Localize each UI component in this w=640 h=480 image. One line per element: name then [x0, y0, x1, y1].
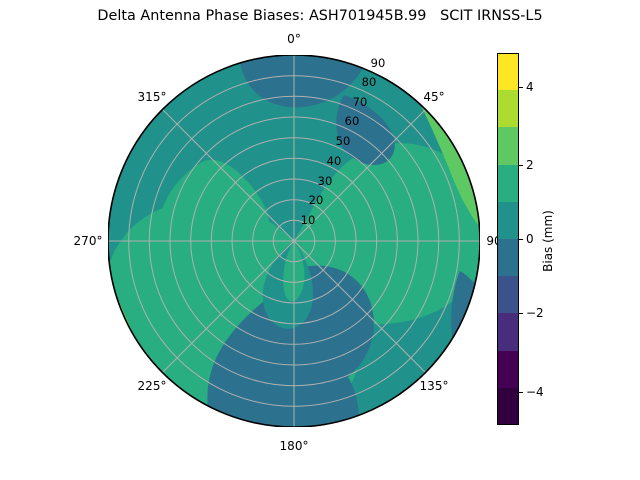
colorbar-band-8	[497, 351, 519, 388]
colorbar-ticklabel-4: 4	[526, 80, 534, 94]
r-tick-label-90: 90	[371, 56, 386, 70]
colorbar-ticklabel-neg4: −4	[526, 385, 544, 399]
colorbar-band-6	[497, 276, 519, 313]
colorbar-band-4	[497, 202, 519, 239]
colorbar-tick-4	[519, 87, 523, 88]
r-tick-label-70: 70	[353, 95, 368, 109]
colorbar: 4 2 0 −2 −4	[497, 53, 519, 425]
colorbar-ticklabel-neg2: −2	[526, 306, 544, 320]
r-tick-label-80: 80	[362, 75, 377, 89]
colorbar-tick-neg2	[519, 313, 523, 314]
contour-band-blue-right	[451, 271, 480, 373]
colorbar-band-9	[497, 388, 519, 425]
theta-tick-label-0: 0°	[287, 32, 301, 46]
page-title: Delta Antenna Phase Biases: ASH701945B.9…	[0, 8, 640, 24]
colorbar-band-1	[497, 90, 519, 127]
polar-plot-axes: 10 20 30 40 50 60 70 80 90	[108, 55, 480, 427]
colorbar-tick-neg4	[519, 392, 523, 393]
colorbar-gradient	[497, 53, 519, 425]
colorbar-tick-2	[519, 165, 523, 166]
colorbar-axis-label: Bias (mm)	[541, 210, 555, 272]
polar-contour-svg	[108, 55, 480, 427]
r-tick-label-30: 30	[318, 174, 333, 188]
r-tick-label-20: 20	[309, 193, 324, 207]
theta-tick-label-225: 225°	[138, 379, 167, 393]
colorbar-tick-0	[519, 239, 523, 240]
colorbar-band-2	[497, 127, 519, 164]
theta-tick-label-270: 270°	[74, 234, 103, 248]
colorbar-band-3	[497, 165, 519, 202]
theta-tick-label-45: 45°	[423, 90, 444, 104]
colorbar-band-7	[497, 313, 519, 350]
r-tick-label-50: 50	[336, 134, 351, 148]
colorbar-ticklabel-0: 0	[526, 232, 534, 246]
r-tick-label-10: 10	[301, 213, 316, 227]
theta-tick-label-315: 315°	[138, 90, 167, 104]
colorbar-ticklabel-2: 2	[526, 158, 534, 172]
r-tick-label-40: 40	[327, 154, 342, 168]
theta-tick-label-180: 180°	[280, 439, 309, 453]
theta-tick-label-135: 135°	[420, 379, 449, 393]
colorbar-band-0	[497, 53, 519, 90]
figure-canvas: Delta Antenna Phase Biases: ASH701945B.9…	[0, 0, 640, 480]
r-tick-label-60: 60	[345, 114, 360, 128]
colorbar-band-5	[497, 239, 519, 276]
polar-grid-spokes	[108, 55, 480, 427]
